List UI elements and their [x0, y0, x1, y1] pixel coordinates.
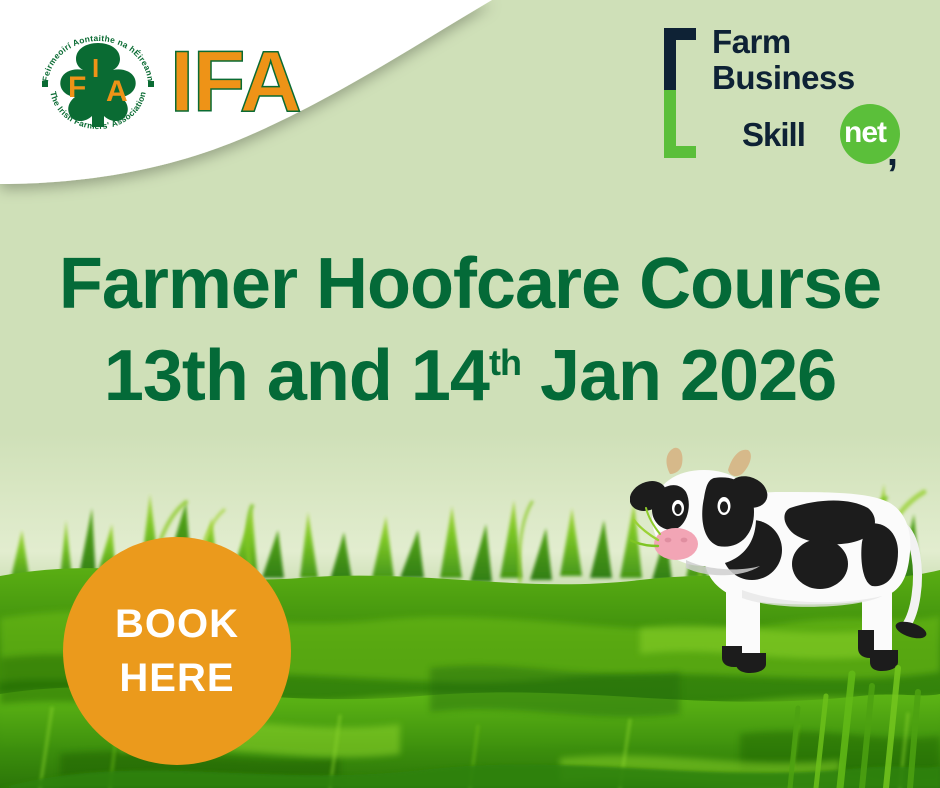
- ifa-logo: F I A Feirmeoirí Aontaithe na hÉireann T…: [36, 22, 326, 142]
- cow-nostril-left: [665, 538, 672, 543]
- ifa-wordmark: IFA: [170, 39, 301, 125]
- skillnet-comma: ,: [887, 132, 898, 172]
- cow-illustration: [630, 440, 940, 690]
- bracket-icon: [664, 28, 698, 158]
- ifa-emblem-letter-f: F: [68, 71, 86, 104]
- ifa-emblem-square-right: [148, 81, 154, 87]
- farm-business-line2: Business: [712, 60, 855, 96]
- cow-nostril-right: [681, 538, 688, 543]
- cow-eye-right-pupil: [720, 501, 728, 512]
- farm-business-line1: Farm: [712, 24, 855, 60]
- cow-horn-left: [667, 448, 683, 474]
- cow-muzzle: [654, 528, 698, 560]
- skillnet-skill-text: Skill: [742, 116, 805, 154]
- headline-block: Farmer Hoofcare Course 13th and 14th Jan…: [0, 248, 940, 412]
- skillnet-wordmark: Skill net ,: [742, 104, 904, 166]
- headline-date-tail: Jan 2026: [521, 336, 836, 416]
- ifa-emblem-letter-i: I: [92, 53, 99, 83]
- farm-business-wordmark: Farm Business: [712, 24, 855, 95]
- headline-line-2: 13th and 14th Jan 2026: [0, 340, 940, 412]
- cow-horn-right: [728, 450, 751, 476]
- cow-hoof-back-near: [870, 650, 898, 671]
- book-here-button[interactable]: BOOK HERE: [63, 537, 291, 765]
- book-here-label-line2: HERE: [119, 651, 234, 705]
- poster-canvas: F I A Feirmeoirí Aontaithe na hÉireann T…: [0, 0, 940, 788]
- headline-date-main: 13th and 14: [104, 336, 489, 416]
- ifa-emblem-square-left: [42, 81, 48, 87]
- cow-spot-mid: [792, 539, 848, 589]
- cow-leg-back-near: [874, 590, 892, 652]
- ifa-emblem-letter-a: A: [106, 75, 128, 108]
- cow-eye-left-pupil: [674, 504, 681, 514]
- cow-hoof-front-near: [736, 653, 766, 673]
- ifa-emblem-icon: F I A Feirmeoirí Aontaithe na hÉireann T…: [36, 23, 160, 141]
- book-here-label-line1: BOOK: [115, 597, 239, 651]
- headline-date-superscript: th: [489, 342, 521, 383]
- skillnet-net-text: net: [844, 116, 886, 150]
- headline-line-1: Farmer Hoofcare Course: [0, 248, 940, 320]
- farm-business-skillnet-logo: Farm Business Skill net ,: [664, 24, 904, 164]
